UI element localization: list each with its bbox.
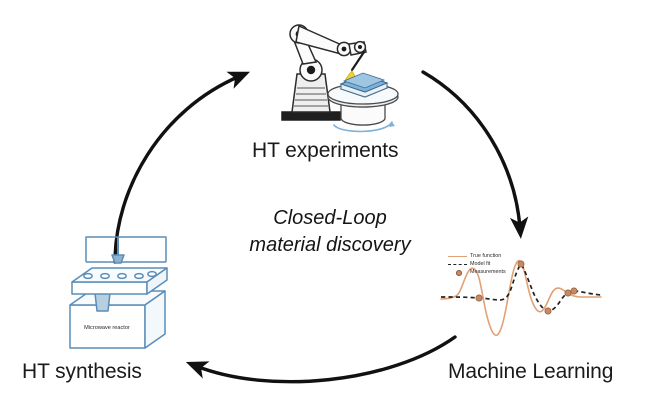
plot-legend: True function Model fit Measurements <box>447 252 506 277</box>
legend-swatch-dot-marker <box>447 268 469 276</box>
legend-swatch-solid-line <box>447 252 469 260</box>
legend-item-true-function: True function <box>447 252 506 260</box>
center-caption-line-2: material discovery <box>222 232 438 259</box>
regression-plot-illustration <box>0 0 660 406</box>
closed-loop-diagram: Microwave reactor True function Model fi… <box>0 0 660 406</box>
node-label-machine-learning: Machine Learning <box>448 360 613 384</box>
legend-item-measurements: Measurements <box>447 268 506 276</box>
legend-label-model-fit: Model fit <box>469 260 490 268</box>
legend-swatch-dashed-line <box>447 260 469 268</box>
center-caption: Closed-Loop material discovery <box>222 205 438 259</box>
center-caption-line-1: Closed-Loop <box>222 205 438 232</box>
legend-label-measurements: Measurements <box>469 268 506 276</box>
legend-label-true-function: True function <box>469 252 501 260</box>
node-label-ht-synthesis: HT synthesis <box>22 360 142 384</box>
node-label-ht-experiments: HT experiments <box>252 139 398 163</box>
legend-item-model-fit: Model fit <box>447 260 506 268</box>
